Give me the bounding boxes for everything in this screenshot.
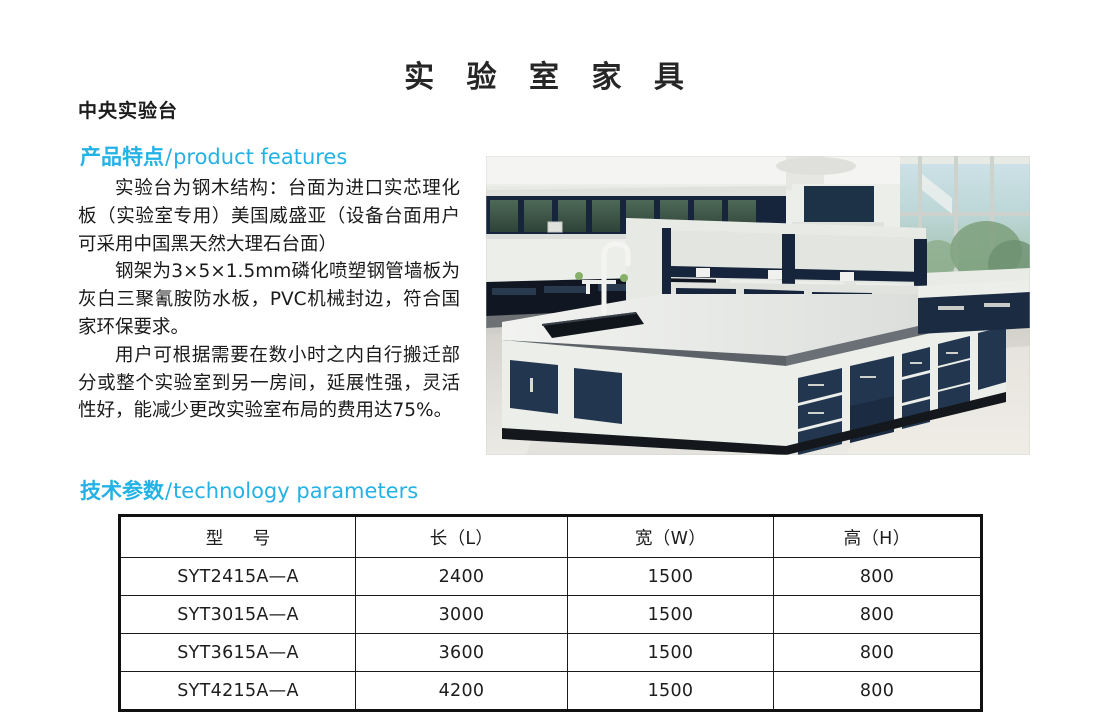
cell-width: 1500 — [568, 558, 774, 596]
cell-model: SYT4215A—A — [120, 672, 356, 711]
section-subtitle: 中央实验台 — [78, 96, 178, 123]
product-features-heading-en: product features — [173, 145, 347, 169]
specification-table-wrap: 型 号 长（L） 宽（W） 高（H） SYT2415A—A 2400 1500 … — [118, 514, 980, 712]
technology-parameters-heading-slash: / — [164, 479, 173, 503]
laboratory-photo-illustration — [486, 156, 1030, 455]
table-row: SYT3015A—A 3000 1500 800 — [120, 596, 982, 634]
cell-width: 1500 — [568, 596, 774, 634]
table-row: SYT3615A—A 3600 1500 800 — [120, 634, 982, 672]
cell-model: SYT3015A—A — [120, 596, 356, 634]
table-header-width: 宽（W） — [568, 516, 774, 558]
cell-length: 2400 — [356, 558, 568, 596]
cell-model: SYT3615A—A — [120, 634, 356, 672]
page-root: 实 验 室 家 具 中央实验台 产品特点/product features 实验… — [0, 0, 1099, 715]
cell-width: 1500 — [568, 672, 774, 711]
table-header-height: 高（H） — [774, 516, 982, 558]
product-features-heading: 产品特点/product features — [80, 141, 347, 171]
product-features-heading-cn: 产品特点 — [80, 145, 164, 169]
laboratory-photo — [486, 156, 1030, 455]
technology-parameters-heading: 技术参数/technology parameters — [80, 475, 418, 505]
cell-height: 800 — [774, 596, 982, 634]
cell-height: 800 — [774, 634, 982, 672]
cell-length: 4200 — [356, 672, 568, 711]
right-perimeter-bench — [918, 280, 1030, 334]
cell-length: 3000 — [356, 596, 568, 634]
product-features-body: 实验台为钢木结构：台面为进口实芯理化板（实验室专用）美国威盛亚（设备台面用户可采… — [78, 175, 460, 425]
table-row: SYT4215A—A 4200 1500 800 — [120, 672, 982, 711]
cell-width: 1500 — [568, 634, 774, 672]
cell-model: SYT2415A—A — [120, 558, 356, 596]
specification-table: 型 号 长（L） 宽（W） 高（H） SYT2415A—A 2400 1500 … — [118, 514, 983, 712]
feature-paragraph-3: 用户可根据需要在数小时之内自行搬迁部分或整个实验室到另一房间，延展性强，灵活性好… — [78, 342, 460, 425]
table-row: SYT2415A—A 2400 1500 800 — [120, 558, 982, 596]
feature-paragraph-2: 钢架为3×5×1.5mm磷化喷塑钢管墙板为灰白三聚氰胺防水板，PVC机械封边，符… — [78, 258, 460, 341]
technology-parameters-heading-cn: 技术参数 — [80, 479, 164, 503]
cell-length: 3600 — [356, 634, 568, 672]
cell-height: 800 — [774, 672, 982, 711]
table-header-length: 长（L） — [356, 516, 568, 558]
cell-height: 800 — [774, 558, 982, 596]
technology-parameters-heading-en: technology parameters — [173, 479, 418, 503]
table-header-row: 型 号 长（L） 宽（W） 高（H） — [120, 516, 982, 558]
product-features-heading-slash: / — [164, 145, 173, 169]
table-header-model: 型 号 — [120, 516, 356, 558]
feature-paragraph-1: 实验台为钢木结构：台面为进口实芯理化板（实验室专用）美国威盛亚（设备台面用户可采… — [78, 175, 460, 258]
